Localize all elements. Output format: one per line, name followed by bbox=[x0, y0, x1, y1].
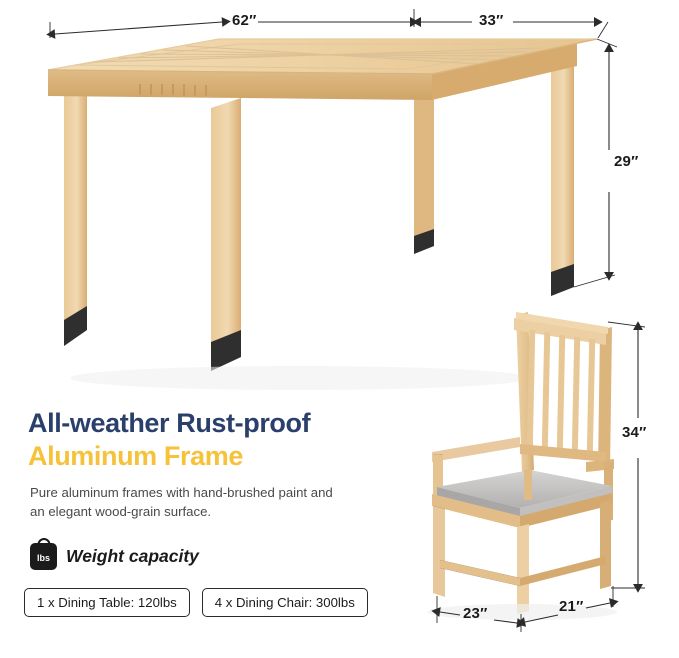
table-leg-rear-left bbox=[64, 88, 87, 346]
dim-label-chair-width: 23″ bbox=[463, 605, 487, 622]
weight-icon-label: lbs bbox=[37, 554, 50, 570]
dining-chair-illustration bbox=[427, 312, 617, 620]
chair-back-slats bbox=[527, 330, 596, 455]
table-apron-front bbox=[48, 70, 432, 100]
chair-leg-rear-right bbox=[600, 500, 611, 589]
weight-capacity-list: 1 x Dining Table: 120lbs 4 x Dining Chai… bbox=[24, 588, 368, 617]
table-leg-front-left bbox=[211, 98, 241, 371]
product-description: Pure aluminum frames with hand-brushed p… bbox=[30, 483, 340, 521]
product-infographic: 62″ 33″ 29″ 34″ 23″ 21″ All-weather Rust… bbox=[0, 0, 679, 658]
weight-capacity-title: Weight capacity bbox=[66, 546, 199, 567]
table-leg-rear-right bbox=[414, 86, 434, 254]
table-leg-front-right bbox=[551, 63, 574, 296]
chair-leg-front-center bbox=[517, 524, 529, 614]
weight-capacity-heading: lbs Weight capacity bbox=[30, 543, 199, 570]
weight-pill-chair: 4 x Dining Chair: 300lbs bbox=[202, 588, 368, 617]
dim-label-chair-depth: 21″ bbox=[559, 598, 583, 615]
chair-leg-front-left bbox=[433, 506, 445, 597]
dim-label-table-length: 62″ bbox=[232, 12, 256, 29]
chair-arm-left bbox=[432, 437, 520, 462]
weight-icon-handle bbox=[37, 538, 50, 547]
weight-icon: lbs bbox=[30, 543, 57, 570]
headline-block: All-weather Rust-proof Aluminum Frame bbox=[28, 408, 388, 472]
dim-label-table-width: 33″ bbox=[479, 12, 503, 29]
weight-pill-table: 1 x Dining Table: 120lbs bbox=[24, 588, 190, 617]
headline-line-1: All-weather Rust-proof bbox=[28, 408, 388, 439]
dining-table-illustration bbox=[48, 39, 597, 390]
dim-label-chair-height: 34″ bbox=[622, 424, 646, 441]
headline-line-2: Aluminum Frame bbox=[28, 441, 388, 472]
dim-label-table-height: 29″ bbox=[614, 153, 638, 170]
